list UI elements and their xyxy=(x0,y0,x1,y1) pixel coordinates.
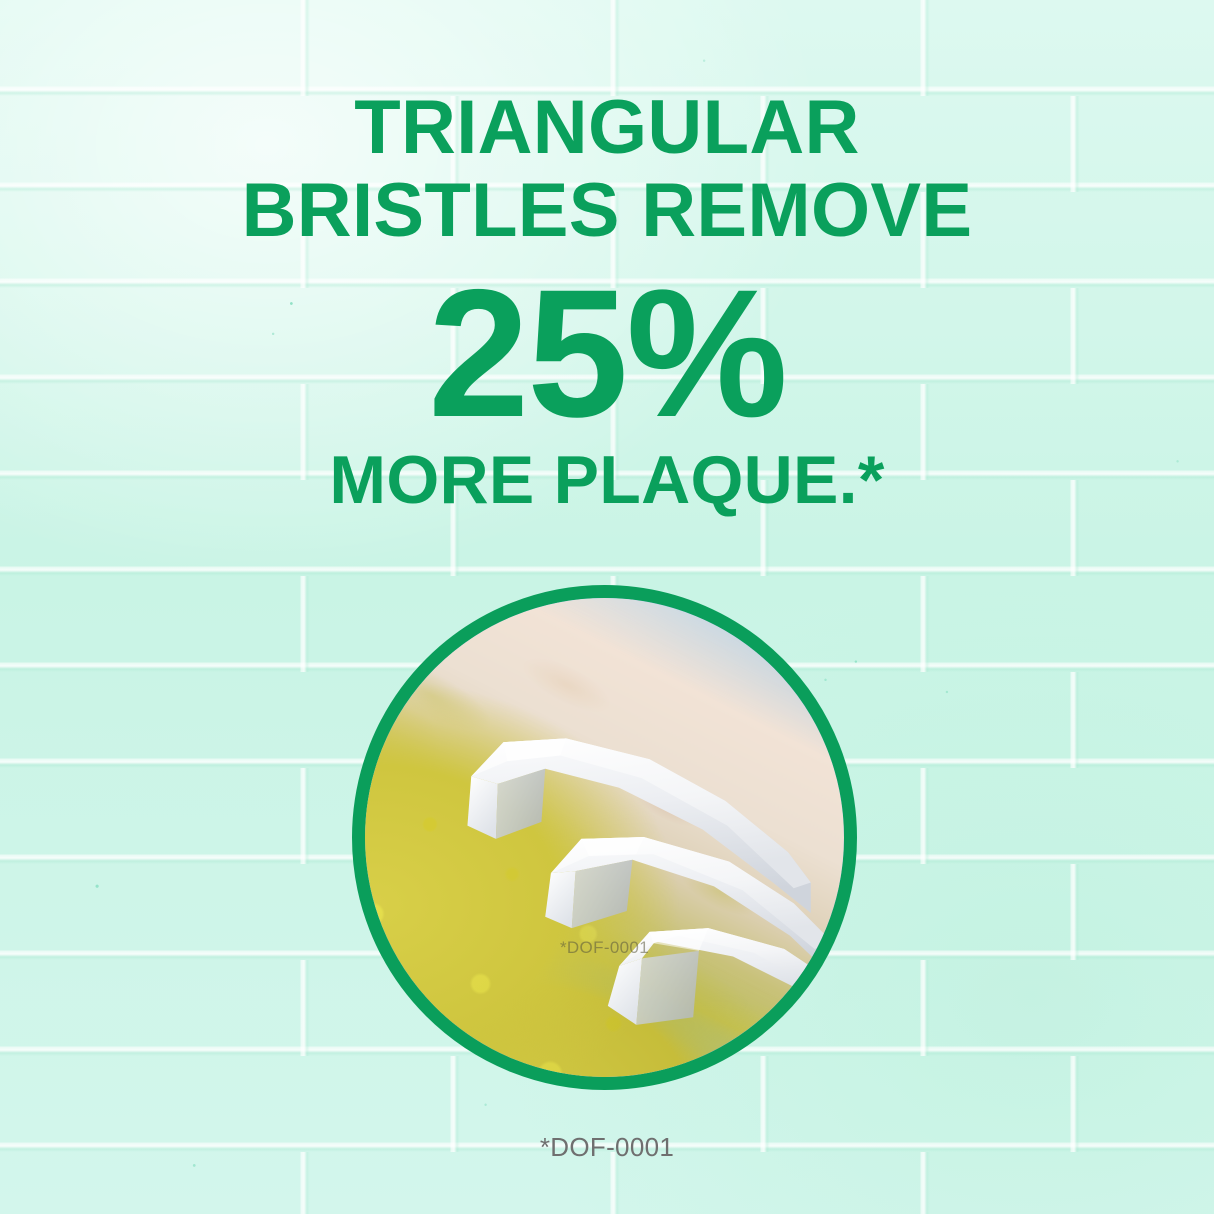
product-visual-circle: *DOF-0001 xyxy=(352,585,857,1090)
headline-stat-percentage: 25% xyxy=(0,262,1214,444)
headline-line-4: MORE PLAQUE.* xyxy=(0,448,1214,513)
product-visual-media: *DOF-0001 xyxy=(365,598,844,1077)
triangular-bristles-layer xyxy=(365,598,844,1077)
ad-canvas: TRIANGULAR BRISTLES REMOVE 25% MORE PLAQ… xyxy=(0,0,1214,1214)
footnote-claim-reference: *DOF-0001 xyxy=(0,1132,1214,1163)
headline-line-1: TRIANGULAR xyxy=(0,92,1214,165)
headline-block: TRIANGULAR BRISTLES REMOVE 25% MORE PLAQ… xyxy=(0,92,1214,513)
headline-line-2: BRISTLES REMOVE xyxy=(0,175,1214,248)
